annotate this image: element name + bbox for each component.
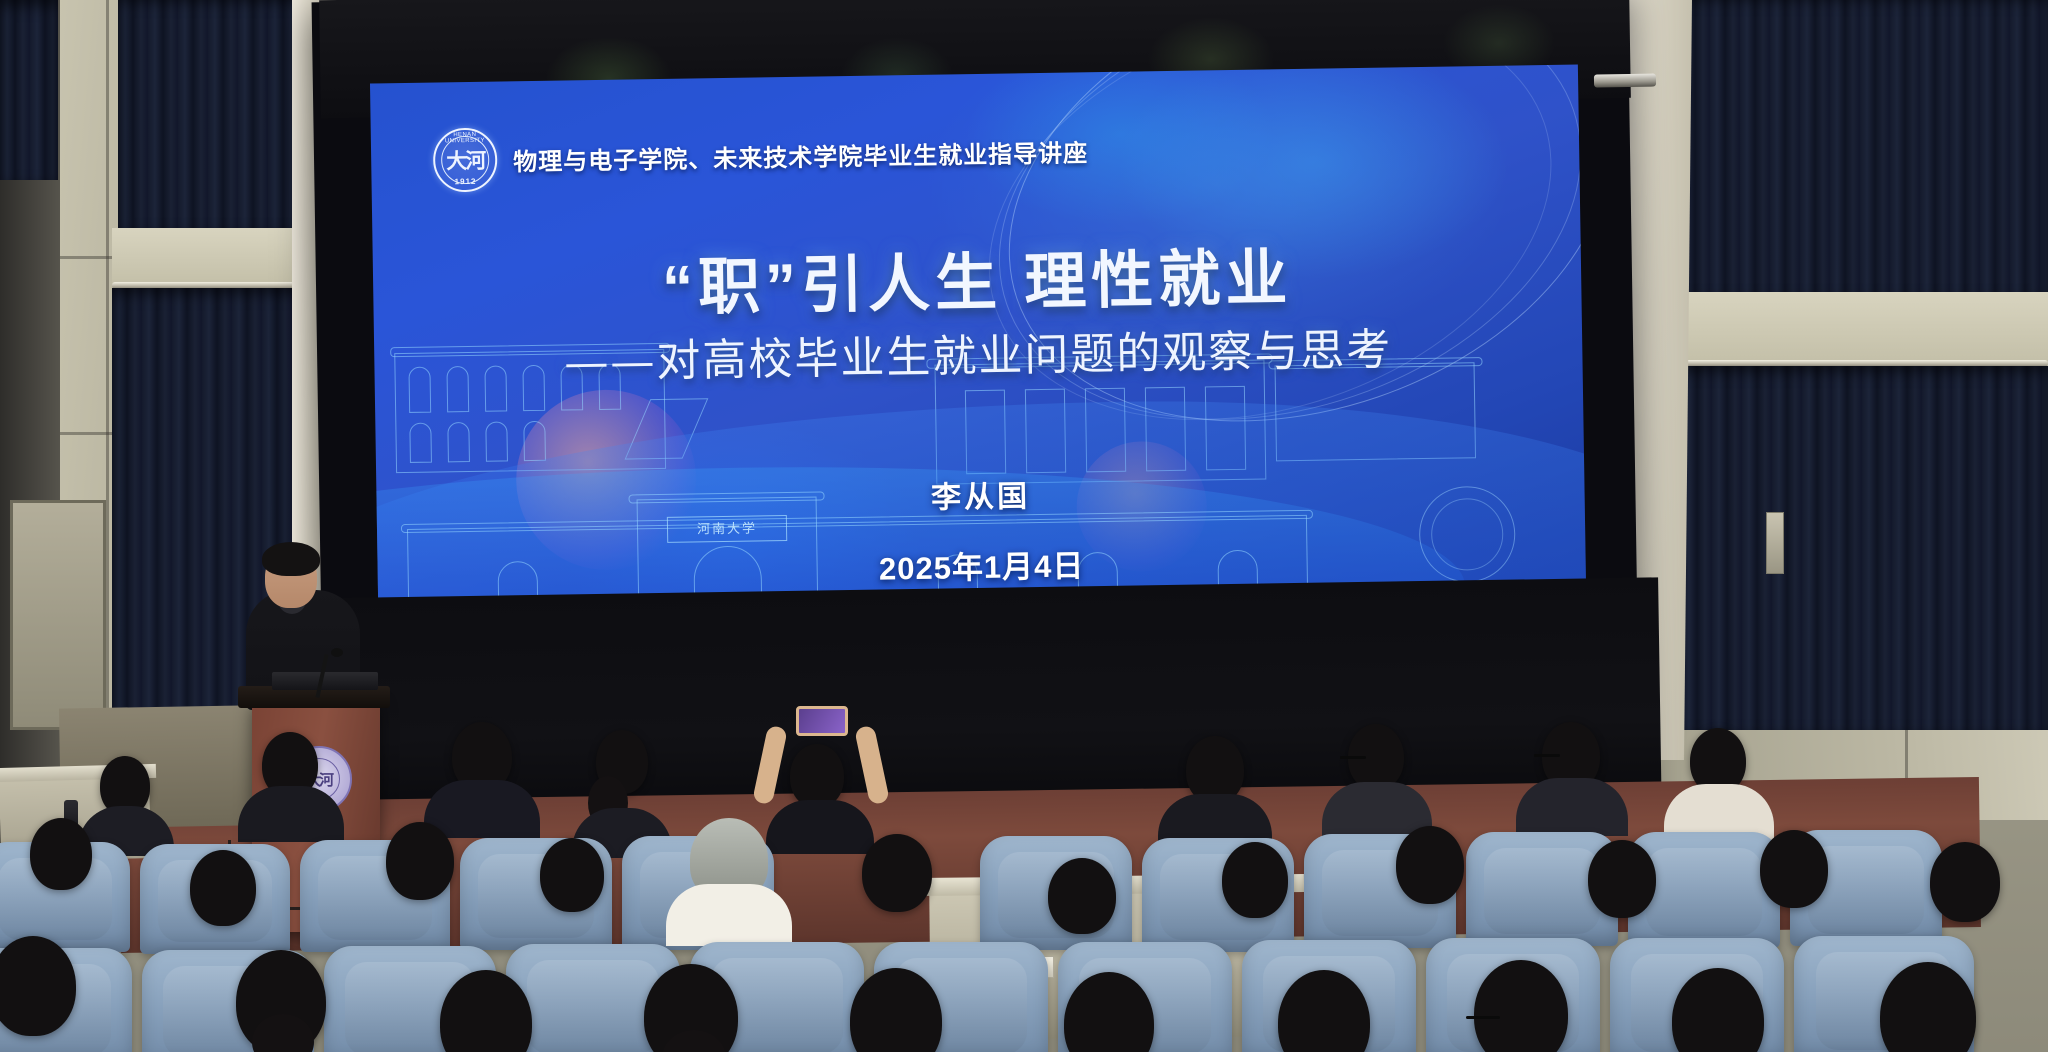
- audience-shoulders: [424, 780, 540, 838]
- podium-laptop: [272, 672, 378, 690]
- curtain-upper-right: [1650, 0, 2048, 294]
- audience-shoulders: [1516, 778, 1628, 836]
- eyeglasses-icon: [1466, 1016, 1500, 1019]
- curtain-lower-right: [1652, 366, 2048, 730]
- audience-area: [0, 722, 2048, 1052]
- audience-arm: [752, 725, 788, 805]
- crest-center-label: 大河: [446, 141, 485, 180]
- doorway-left: [10, 500, 106, 730]
- audience-head: [540, 838, 604, 912]
- audience-head: [190, 850, 256, 926]
- building-arch: [485, 421, 508, 461]
- audience-head: [1222, 842, 1288, 918]
- lecture-hall-photo: 河南大学 HENAN UNIVERSITY 大河 1912 物理与电子学院、未来…: [0, 0, 2048, 1052]
- audience-shoulders: [238, 786, 344, 842]
- curtain-far-left: [0, 0, 58, 180]
- audience-shoulders: [766, 800, 874, 854]
- slide-header: HENAN UNIVERSITY 大河 1912 物理与电子学院、未来技术学院毕…: [433, 118, 1089, 192]
- audience-head: [1588, 840, 1656, 918]
- screen-mount-clip: [1594, 74, 1656, 88]
- building-arch: [523, 421, 546, 461]
- audience-head: [1396, 826, 1464, 904]
- audience-head: [386, 822, 454, 900]
- audience-head: [1760, 830, 1828, 908]
- audience-head: [1048, 858, 1116, 934]
- audience-shoulders: [666, 884, 792, 946]
- building-arch: [409, 423, 432, 463]
- crest-ring-bottom-label: 1912: [435, 177, 495, 187]
- audience-head: [1930, 842, 2000, 922]
- audience-head: [790, 744, 844, 808]
- eyeglasses-icon: [1340, 756, 1366, 759]
- slide-header-text: 物理与电子学院、未来技术学院毕业生就业指导讲座: [513, 133, 1088, 177]
- curtain-valance: [112, 228, 312, 286]
- presentation-slide: 河南大学 HENAN UNIVERSITY 大河 1912 物理与电子学院、未来…: [370, 65, 1586, 604]
- wall-fixture-icon: [1766, 512, 1784, 574]
- eyeglasses-icon: [1534, 754, 1560, 757]
- crest-ring-top-label: HENAN UNIVERSITY: [435, 132, 495, 145]
- microphone-head-icon: [331, 648, 343, 657]
- curtain-valance: [1650, 292, 2048, 364]
- henan-university-crest-icon: HENAN UNIVERSITY 大河 1912: [433, 128, 498, 193]
- smartphone-icon: [796, 706, 848, 736]
- audience-arm: [854, 725, 890, 805]
- panel-seam: [106, 0, 109, 760]
- audience-head: [30, 818, 92, 890]
- presenter-hair: [262, 542, 320, 576]
- curtain-upper-left: [118, 0, 308, 228]
- building-arch: [447, 422, 470, 462]
- audience-head: [862, 834, 932, 912]
